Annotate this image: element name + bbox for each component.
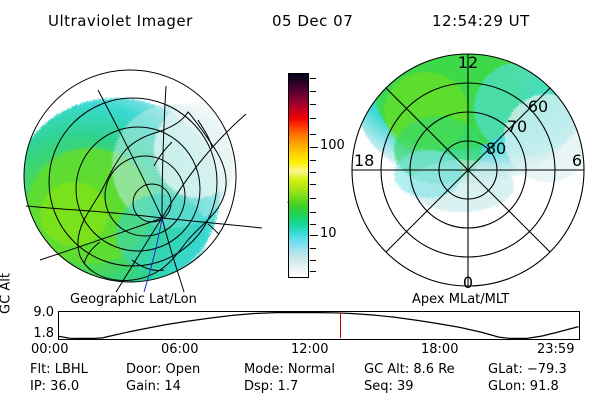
colorbar-tick bbox=[310, 184, 316, 185]
colorbar-tick bbox=[310, 271, 316, 272]
status-glon: GLon: 91.8 bbox=[488, 379, 559, 394]
x-tick-0000: 00:00 bbox=[31, 342, 68, 357]
mlt-panel-caption: Apex MLat/MLT bbox=[412, 292, 509, 307]
colorbar-gradient bbox=[289, 74, 308, 277]
y-tick-9: 9.0 bbox=[18, 305, 54, 320]
status-gc-alt: GC Alt: 8.6 Re bbox=[364, 362, 455, 377]
observation-date: 05 Dec 07 bbox=[272, 12, 353, 30]
x-tick-1200: 12:00 bbox=[291, 342, 328, 357]
colorbar-tick-major-100 bbox=[310, 147, 318, 148]
status-glat: GLat: −79.3 bbox=[488, 362, 567, 377]
colorbar[interactable]: photon cm⁻²s⁻¹ 100 10 bbox=[266, 60, 342, 294]
colorbar-tick bbox=[310, 134, 316, 135]
geo-panel-caption: Geographic Lat/Lon bbox=[70, 292, 197, 307]
mlat-label-80: 80 bbox=[486, 139, 506, 158]
status-mode: Mode: Normal bbox=[244, 362, 335, 377]
colorbar-tick bbox=[310, 91, 316, 92]
colorbar-label-10: 10 bbox=[320, 229, 337, 239]
status-ip: IP: 36.0 bbox=[30, 379, 79, 394]
x-tick-0600: 06:00 bbox=[161, 342, 198, 357]
x-tick-1800: 18:00 bbox=[421, 342, 458, 357]
colorbar-tick bbox=[310, 198, 316, 199]
status-filter: Flt: LBHL bbox=[30, 362, 88, 377]
status-door: Door: Open bbox=[126, 362, 200, 377]
gc-alt-axis-label: GC Alt bbox=[0, 264, 14, 324]
orbit-altitude-curve bbox=[59, 312, 579, 339]
mlt-label-right: 6 bbox=[572, 151, 582, 170]
colorbar-tick bbox=[310, 160, 316, 161]
mlt-plot-svg: 12 18 6 0 60 70 80 bbox=[342, 46, 594, 294]
geographic-polar-plot[interactable] bbox=[12, 46, 264, 294]
current-time-marker bbox=[340, 313, 341, 338]
colorbar-tick bbox=[310, 224, 316, 225]
geo-plot-svg bbox=[12, 46, 264, 294]
geo-aurora-data bbox=[12, 98, 242, 290]
gc-alt-polyline bbox=[59, 313, 579, 339]
colorbar-tick bbox=[310, 260, 316, 261]
mlt-spokes bbox=[352, 54, 584, 286]
instrument-title: Ultraviolet Imager bbox=[48, 12, 193, 30]
orbit-altitude-panel[interactable]: Geographic Lat/Lon Apex MLat/MLT GC Alt … bbox=[0, 292, 600, 354]
header-bar: Ultraviolet Imager 05 Dec 07 12:54:29 UT bbox=[0, 6, 600, 34]
colorbar-tick bbox=[310, 212, 316, 213]
apex-mlt-polar-plot[interactable]: 12 18 6 0 60 70 80 bbox=[342, 46, 594, 294]
colorbar-tick-major-10 bbox=[310, 235, 318, 236]
colorbar-tick bbox=[310, 118, 316, 119]
observation-time: 12:54:29 UT bbox=[432, 12, 530, 30]
status-panel: Flt: LBHL Door: Open Mode: Normal GC Alt… bbox=[0, 362, 600, 400]
colorbar-tick bbox=[310, 104, 316, 105]
mlt-label-left: 18 bbox=[354, 151, 374, 170]
mlt-label-top: 12 bbox=[458, 53, 478, 72]
status-seq: Seq: 39 bbox=[364, 379, 414, 394]
colorbar-tick bbox=[310, 248, 316, 249]
orbit-plot-frame bbox=[58, 311, 580, 340]
colorbar-tick bbox=[310, 78, 316, 79]
colorbar-tick bbox=[310, 172, 316, 173]
colorbar-swatch bbox=[288, 73, 309, 278]
y-tick-1p8: 1.8 bbox=[18, 326, 54, 341]
mlat-label-70: 70 bbox=[507, 117, 527, 136]
status-dsp: Dsp: 1.7 bbox=[244, 379, 298, 394]
mlat-label-60: 60 bbox=[528, 97, 548, 116]
mlt-label-bottom: 0 bbox=[463, 273, 473, 292]
x-tick-2359: 23:59 bbox=[537, 342, 574, 357]
status-gain: Gain: 14 bbox=[126, 379, 181, 394]
